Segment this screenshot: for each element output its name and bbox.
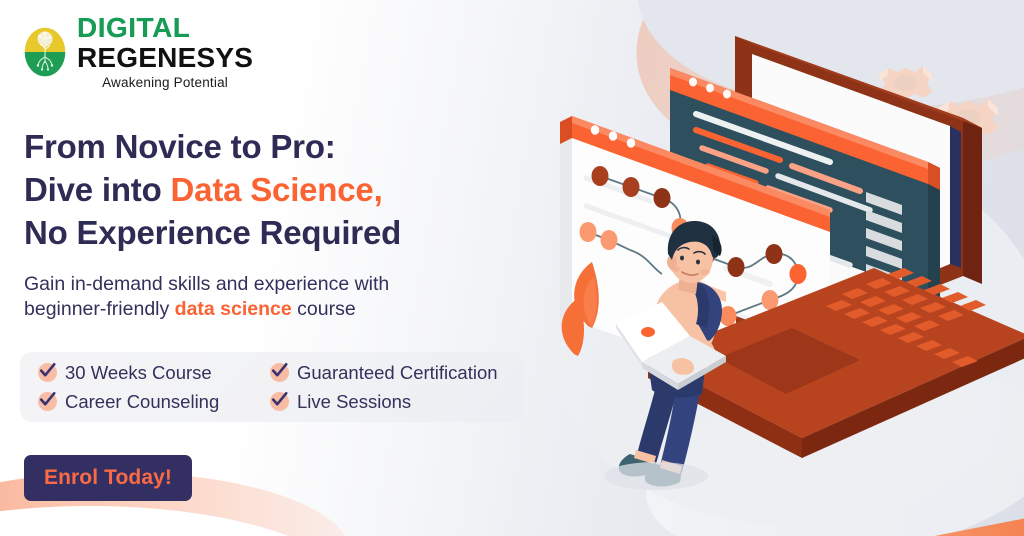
feature-label: Career Counseling [65,391,219,413]
hero-illustration [530,6,1024,530]
feature-item-career-counseling: Career Counseling [38,387,270,416]
feature-item-30-weeks-course: 30 Weeks Course [38,358,270,387]
brand-tagline: Awakening Potential [77,76,253,90]
marketing-banner: DIGITAL REGENESYS Awakening Potential Fr… [0,0,1024,536]
subtitle-line-2-accent: data science [175,298,292,320]
feature-item-guaranteed-certification: Guaranteed Certification [270,358,524,387]
page-title: From Novice to Pro: Dive into Data Scien… [24,126,401,255]
subtitle-line-2-suffix: course [292,298,356,320]
subtitle: Gain in-demand skills and experience wit… [24,272,389,323]
headline-line-3: No Experience Required [24,212,401,255]
subtitle-line-2-prefix: beginner-friendly [24,298,175,320]
feature-label: 30 Weeks Course [65,362,212,384]
check-mark-icon [270,392,289,411]
brand-name-line1: DIGITAL [77,14,253,42]
headline-line-2-accent: Data Science, [171,171,383,208]
feature-label: Live Sessions [297,391,411,413]
check-mark-icon [38,363,57,382]
subtitle-line-2: beginner-friendly data science course [24,297,389,322]
tree-shield-icon [22,25,68,79]
brand-wordmark: DIGITAL REGENESYS Awakening Potential [77,14,253,90]
enrol-today-button[interactable]: Enrol Today! [24,455,192,501]
check-mark-icon [38,392,57,411]
feature-item-live-sessions: Live Sessions [270,387,524,416]
feature-list: 30 Weeks Course Guaranteed Certification… [20,352,524,422]
headline-line-2-prefix: Dive into [24,171,171,208]
decor-bottom-left-curve-mask [0,506,350,536]
headline-line-1: From Novice to Pro: [24,126,401,169]
brand-logo[interactable]: DIGITAL REGENESYS Awakening Potential [22,14,253,90]
subtitle-line-1: Gain in-demand skills and experience wit… [24,272,389,297]
feature-label: Guaranteed Certification [297,362,498,384]
check-mark-icon [270,363,289,382]
brand-name-line2: REGENESYS [77,44,253,72]
headline-line-2: Dive into Data Science, [24,169,401,212]
